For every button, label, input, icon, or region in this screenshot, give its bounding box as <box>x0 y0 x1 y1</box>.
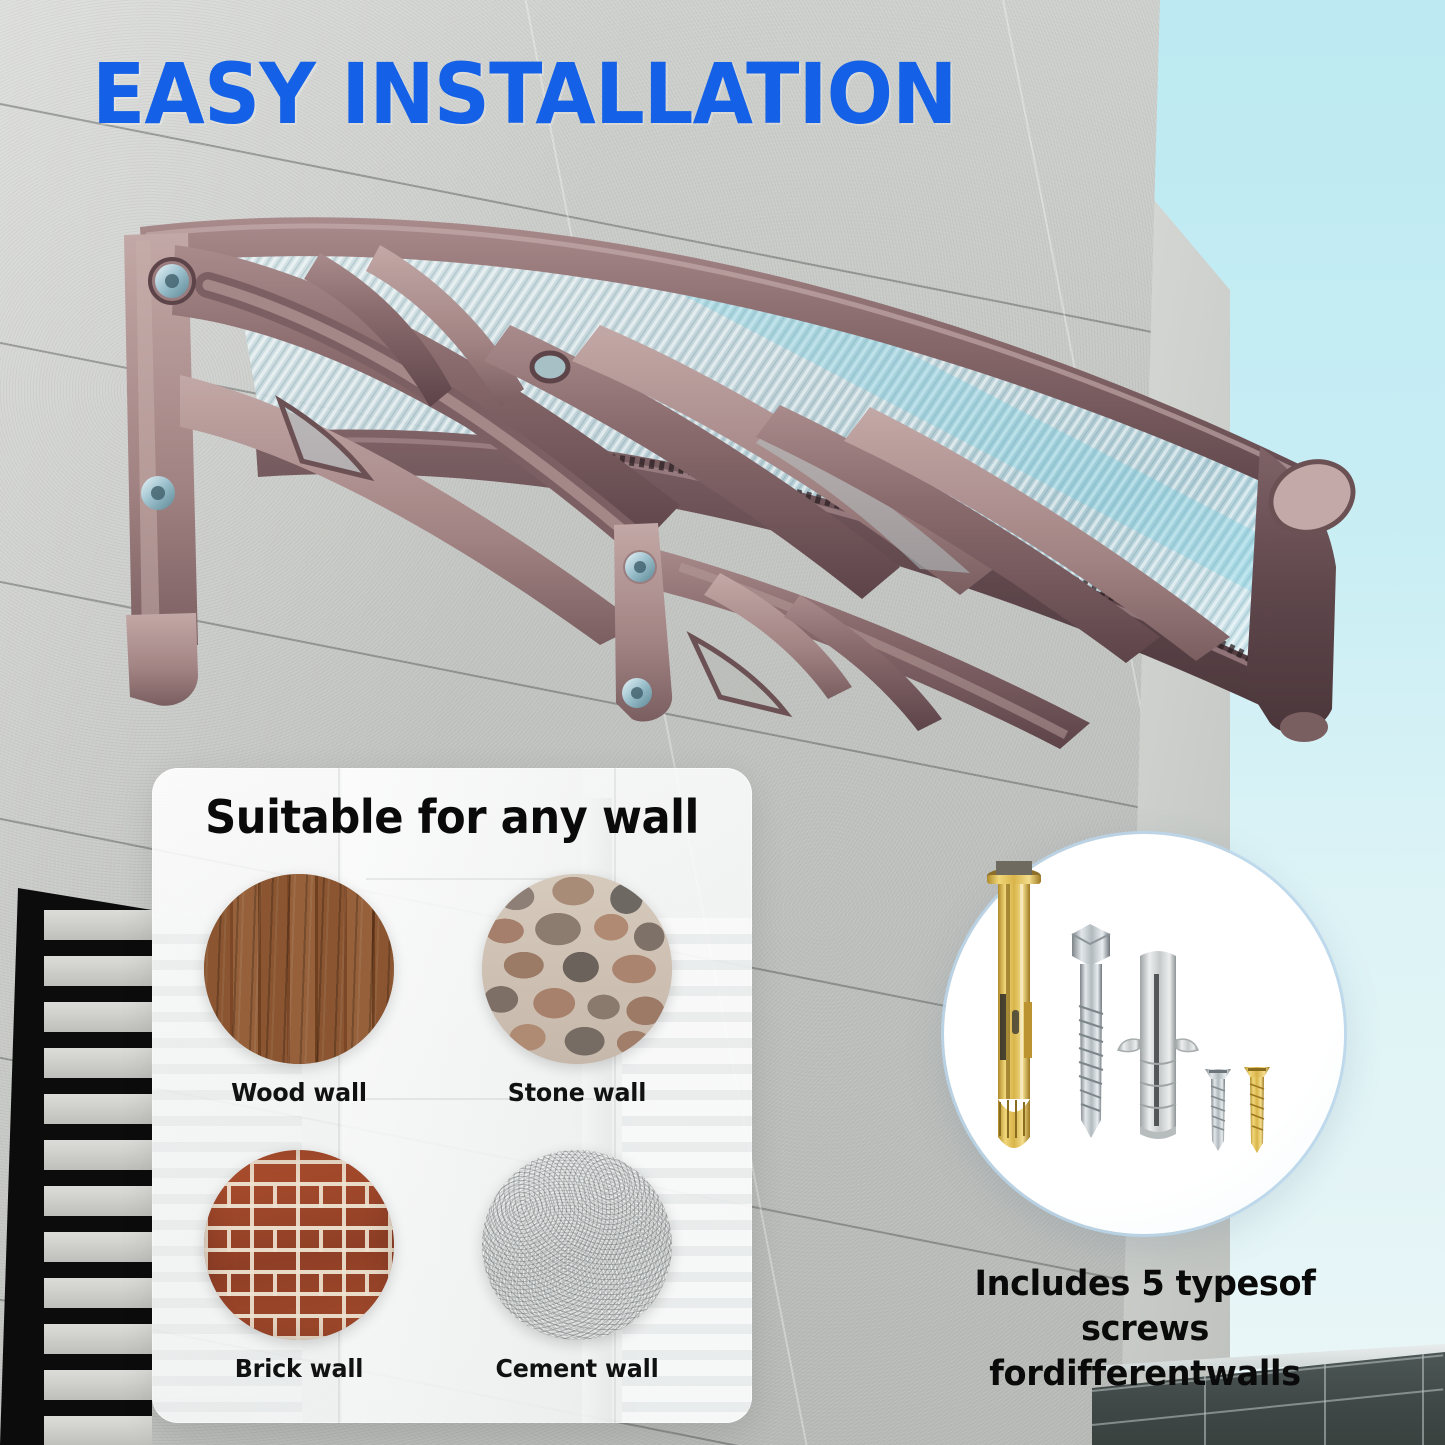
expansion-anchor-icon <box>987 861 1041 1148</box>
flat-screw-small-icon <box>1205 1069 1231 1151</box>
bolt-bottom-centre <box>622 678 652 708</box>
hardware-caption-line-2: screws fordifferentwalls <box>939 1307 1352 1397</box>
nylon-wall-plug-icon <box>1118 951 1198 1139</box>
stone-texture <box>482 874 672 1064</box>
right-end-rail <box>1246 447 1364 742</box>
louvered-shutter <box>0 888 152 1445</box>
card-title: Suitable for any wall <box>170 790 734 844</box>
hardware-caption-line-1: Includes 5 typesof <box>939 1262 1352 1307</box>
swatch-wood-wall[interactable]: Wood wall <box>204 874 394 1107</box>
bolt-bottom-left <box>141 476 175 510</box>
suitable-walls-card: Suitable for any wall Wood wall Stone wa… <box>152 768 752 1423</box>
wood-texture <box>204 874 394 1064</box>
product-marketing-image: EASY INSTALLATION Suitable for any wall <box>0 0 1445 1445</box>
hex-lag-screw-icon <box>1072 924 1110 1138</box>
wall-swatch-grid: Wood wall Stone wall Brick wall Cement w… <box>152 864 752 1423</box>
brick-texture <box>204 1150 394 1340</box>
flat-screw-gold-icon <box>1244 1067 1270 1153</box>
swatch-label-stone: Stone wall <box>487 1078 668 1107</box>
awning-product <box>80 175 1410 755</box>
bolt-top-centre <box>625 552 655 582</box>
swatch-label-brick: Brick wall <box>209 1354 390 1383</box>
swatch-label-wood: Wood wall <box>209 1078 390 1107</box>
swatch-label-cement: Cement wall <box>487 1354 668 1383</box>
bolt-top-left <box>155 264 189 298</box>
hardware-bubble <box>944 834 1344 1234</box>
swatch-brick-wall[interactable]: Brick wall <box>204 1150 394 1383</box>
cement-texture <box>482 1150 672 1340</box>
hardware-caption: Includes 5 typesof screws fordifferentwa… <box>939 1262 1352 1396</box>
swatch-cement-wall[interactable]: Cement wall <box>482 1150 672 1383</box>
swatch-stone-wall[interactable]: Stone wall <box>482 874 672 1107</box>
page-title: EASY INSTALLATION <box>92 45 957 143</box>
